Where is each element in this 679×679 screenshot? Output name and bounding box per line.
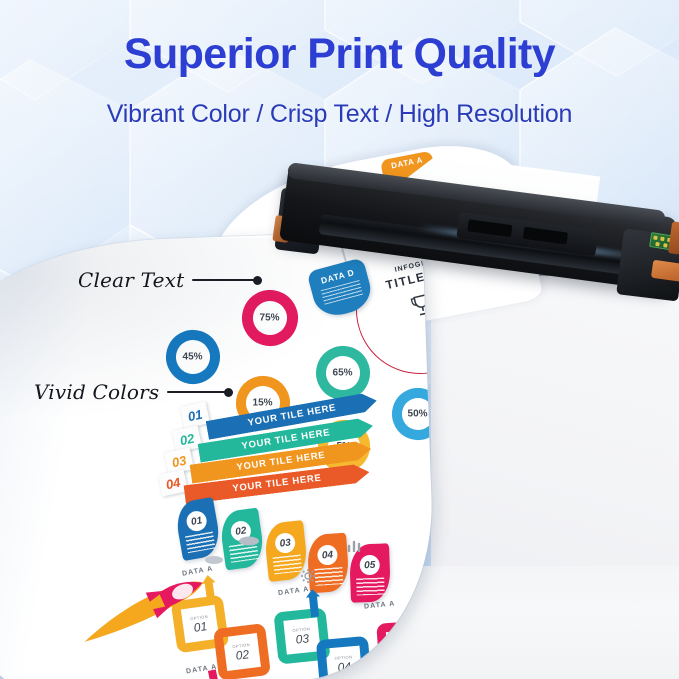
page-headline: Superior Print Quality xyxy=(0,30,679,79)
bar-group-2020 xyxy=(19,674,62,679)
gear-icon xyxy=(300,568,316,584)
callout-vivid-colors-label: Vivid Colors xyxy=(34,380,159,404)
callout-endpoint-dot xyxy=(224,388,233,397)
callout-endpoint-dot xyxy=(253,276,262,285)
bar-chart-icon xyxy=(346,538,364,552)
option-frame-02: OPTION02 xyxy=(213,623,271,679)
callout-leader-line xyxy=(192,279,254,281)
leaf-badge-01: 01 xyxy=(173,497,222,561)
laser-toner-cartridge xyxy=(268,158,679,306)
callout-leader-line xyxy=(167,391,225,393)
leaf-badge-05: 05 xyxy=(349,543,391,602)
option-arrow-03 xyxy=(309,596,319,618)
callout-clear-text: Clear Text xyxy=(78,268,262,292)
white-surface-right xyxy=(431,276,679,576)
leaf-badge-04: 04 xyxy=(306,533,350,594)
option-frame-04: OPTION04 xyxy=(316,636,372,679)
cloud-icon xyxy=(238,534,260,546)
callout-vivid-colors: Vivid Colors xyxy=(34,380,233,404)
callout-clear-text-label: Clear Text xyxy=(78,268,184,292)
page-subheadline: Vibrant Color / Crisp Text / High Resolu… xyxy=(0,100,679,129)
cloud-icon-2 xyxy=(204,554,224,565)
option-arrow-05 xyxy=(411,608,420,630)
option-frame-05: OPTION05 xyxy=(376,620,432,676)
product-marketing-image: Superior Print Quality Vibrant Color / C… xyxy=(0,0,679,679)
ribbon-number-01: 01 xyxy=(180,402,210,429)
ribbon-number-04: 04 xyxy=(158,470,188,497)
